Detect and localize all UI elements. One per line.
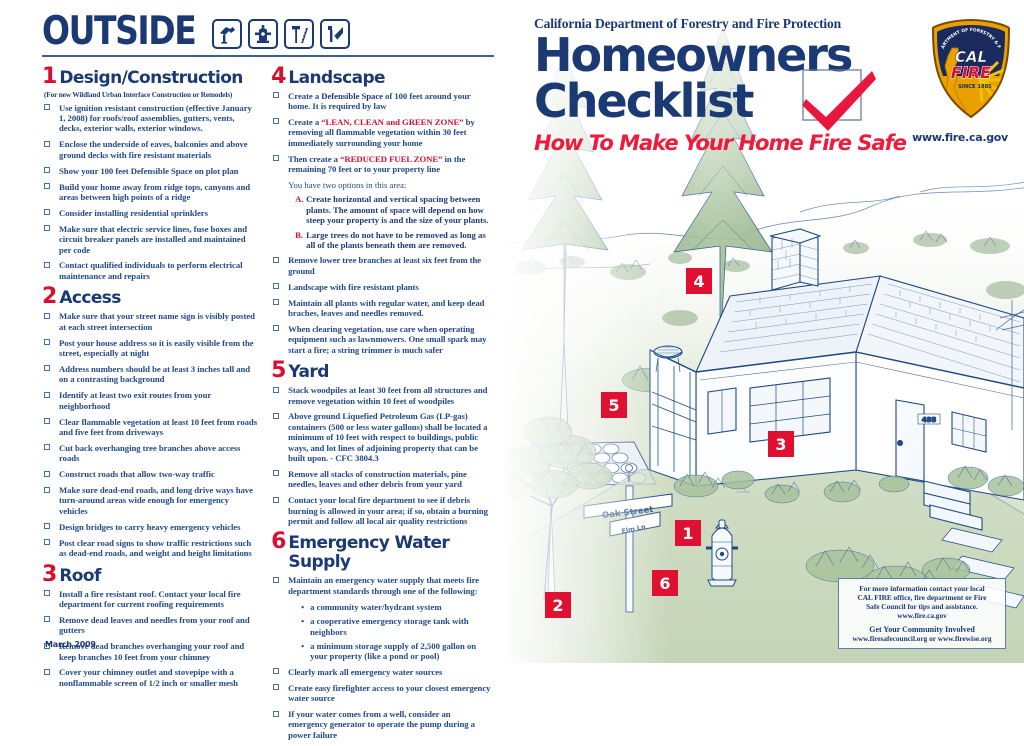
item-text: Contact your local fire department to se… [288, 495, 488, 526]
section-yard: 5 Yard Stack woodpiles at least 30 feet … [271, 361, 492, 526]
checkbox-icon[interactable] [44, 262, 50, 268]
item-text: Enclose the underside of eaves, balconie… [59, 139, 248, 159]
checkbox-icon[interactable] [273, 577, 279, 583]
item-text: Then create a [288, 154, 340, 164]
option-label: B. [295, 230, 303, 240]
list-item[interactable]: Enclose the underside of eaves, balconie… [42, 139, 257, 160]
section-emergency-water-supply: 6 Emergency Water Supply Maintain an eme… [271, 532, 492, 740]
cal-fire-url: www.fire.ca.gov [906, 131, 1014, 144]
section-6-heading: 6 Emergency Water Supply [271, 532, 492, 572]
item-text: Design bridges to carry heavy emergency … [59, 522, 240, 532]
info-url[interactable]: www.fire.ca.gov [845, 611, 999, 620]
section-5-heading: 5 Yard [271, 361, 492, 382]
item-text: Contact qualified individuals to perform… [59, 260, 243, 280]
item-text: Landscape with fire resistant plants [288, 282, 419, 292]
section-5-title: Yard [288, 363, 328, 382]
list-item: a community water/hydrant system [301, 602, 492, 612]
list-item[interactable]: Make sure dead-end roads, and long drive… [42, 485, 257, 516]
checkbox-icon[interactable] [273, 325, 279, 331]
option-text: Large trees do not have to be removed as… [306, 230, 486, 250]
checkbox-icon[interactable] [44, 444, 50, 450]
section-2-heading: 2 Access [42, 287, 257, 308]
more-information-box: For more information contact your local … [838, 578, 1006, 649]
item-text: Create a [288, 117, 321, 127]
list-item[interactable]: Contact qualified individuals to perform… [42, 260, 257, 281]
item-text: Make sure that your street name sign is … [59, 311, 255, 331]
map-marker-3: 3 [768, 431, 794, 457]
info-strong: Get Your Community Involved [845, 625, 999, 634]
checkbox-icon[interactable] [273, 283, 279, 289]
checkbox-icon[interactable] [273, 497, 279, 503]
section-3-heading: 3 Roof [42, 565, 257, 586]
option-text: Create horizontal and vertical spacing b… [306, 194, 488, 224]
checkbox-icon[interactable] [273, 470, 279, 476]
option-label: A. [295, 194, 303, 204]
checkbox-icon[interactable] [273, 668, 279, 674]
item-text: Post clear road signs to show traffic re… [59, 538, 252, 558]
list-item[interactable]: Post your house address so it is easily … [42, 338, 257, 359]
list-item[interactable]: Identify at least two exit routes from y… [42, 390, 257, 411]
list-item[interactable]: When clearing vegetation, use care when … [271, 324, 492, 355]
item-text: Address numbers should be at least 3 inc… [59, 364, 250, 384]
checkbox-icon[interactable] [44, 471, 50, 477]
list-item[interactable]: Use ignition resistant construction (eff… [42, 103, 257, 134]
checkbox-icon[interactable] [44, 183, 50, 189]
house-number-text: 488 [922, 416, 937, 424]
checkbox-icon[interactable] [44, 339, 50, 345]
section-1-heading: 1 Design/Construction [42, 67, 257, 88]
section-2-title: Access [59, 289, 120, 308]
list-item[interactable]: Create a “LEAN, CLEAN and GREEN ZONE” by… [271, 117, 492, 148]
list-item[interactable]: Create easy firefighter access to your c… [271, 683, 492, 704]
fire-hydrant-icon [248, 19, 278, 49]
item-text: Consider installing residential sprinkle… [59, 208, 208, 218]
checkbox-icon[interactable] [44, 365, 50, 371]
list-item[interactable]: Construct roads that allow two-way traff… [42, 469, 257, 479]
section-6-number: 6 [271, 532, 285, 552]
checkbox-icon[interactable] [44, 225, 50, 231]
list-item[interactable]: Post clear road signs to show traffic re… [42, 538, 257, 559]
checkbox-icon[interactable] [44, 141, 50, 147]
info-line-2: CAL FIRE office, fire department or Fire [845, 593, 999, 602]
header-icon-group [212, 19, 350, 49]
section-landscape: 4 Landscape Create a Defensible Space of… [271, 67, 492, 356]
list-item[interactable]: Design bridges to carry heavy emergency … [42, 522, 257, 532]
section-2-number: 2 [42, 287, 56, 307]
section-1-items: Use ignition resistant construction (eff… [42, 103, 257, 282]
checkbox-icon[interactable] [44, 167, 50, 173]
list-item[interactable]: Make sure that electric service lines, f… [42, 224, 257, 255]
section-4-title: Landscape [288, 69, 385, 88]
publication-date: March 2009 [45, 640, 96, 649]
checkbox-icon[interactable] [44, 539, 50, 545]
item-text: When clearing vegetation, use care when … [288, 324, 486, 355]
outside-title: OUTSIDE [42, 14, 195, 50]
item-text: Construct roads that allow two-way traff… [59, 469, 215, 479]
logo-since-text: SINCE 1885 [958, 84, 992, 90]
checkbox-icon[interactable] [44, 669, 50, 675]
checklist-columns: 1 Design/Construction (For new Wildland … [42, 61, 492, 746]
section-4-heading: 4 Landscape [271, 67, 492, 88]
list-item[interactable]: Maintain an emergency water supply that … [271, 575, 492, 596]
section-1-title: Design/Construction [59, 69, 242, 88]
list-item[interactable]: Then create a “REDUCED FUEL ZONE” in the… [271, 154, 492, 175]
list-item: a cooperative emergency storage tank wit… [301, 616, 492, 637]
section-2-items: Make sure that your street name sign is … [42, 311, 257, 558]
item-text: Cut back overhanging tree branches above… [59, 443, 240, 463]
section-roof: 3 Roof Install a fire resistant roof. Co… [42, 565, 257, 689]
item-text: Build your home away from ridge tops, ca… [59, 182, 250, 202]
hand-tool-icon [320, 19, 350, 49]
list-item[interactable]: Build your home away from ridge tops, ca… [42, 182, 257, 203]
list-item[interactable]: Create a Defensible Space of 100 feet ar… [271, 91, 492, 112]
section-6-title: Emergency Water Supply [288, 534, 492, 572]
section-design-construction: 1 Design/Construction (For new Wildland … [42, 67, 257, 282]
section-6-lead: Maintain an emergency water supply that … [271, 575, 492, 596]
cal-fire-shield-icon: CALIFORNIA DEPARTMENT OF FORESTRY & FIRE… [928, 18, 1014, 122]
item-text: Clear flammable vegetation at least 10 f… [59, 417, 257, 437]
checkbox-icon[interactable] [273, 118, 279, 124]
red-checkmark-icon [802, 69, 876, 131]
list-item: B.Large trees do not have to be removed … [295, 230, 492, 250]
list-item[interactable]: If your water comes from a well, conside… [271, 709, 492, 740]
list-item[interactable]: Remove dead leaves and needles from your… [42, 615, 257, 636]
list-item[interactable]: Remove all stacks of construction materi… [271, 469, 492, 490]
list-item[interactable]: Landscape with fire resistant plants [271, 282, 492, 292]
list-item[interactable]: Clearly mark all emergency water sources [271, 667, 492, 677]
section-4-items: Remove lower tree branches at least six … [271, 255, 492, 355]
list-item[interactable]: Stack woodpiles at least 30 feet from al… [271, 385, 492, 406]
item-text: Remove all stacks of construction materi… [288, 469, 467, 489]
list-item: A.Create horizontal and vertical spacing… [295, 194, 492, 225]
list-item[interactable]: Install a fire resistant roof. Contact y… [42, 589, 257, 610]
map-marker-1: 1 [675, 520, 701, 546]
item-text: Above ground Liquefied Petroleum Gas (LP… [288, 411, 487, 463]
map-marker-2: 2 [545, 592, 571, 618]
list-item[interactable]: Show your 100 feet Defensible Space on p… [42, 166, 257, 176]
homeowners-checklist-page: 488 [0, 0, 1024, 663]
item-text: Stack woodpiles at least 30 feet from al… [288, 385, 487, 405]
cal-fire-logo: CALIFORNIA DEPARTMENT OF FORESTRY & FIRE… [928, 18, 1014, 144]
section-6-bullets: a community water/hydrant system a coope… [271, 602, 492, 662]
checklist-column-2: 4 Landscape Create a Defensible Space of… [271, 61, 492, 746]
header-divider [42, 55, 494, 57]
item-text: Maintain an emergency water supply that … [288, 575, 479, 595]
landscape-options: A.Create horizontal and vertical spacing… [271, 194, 492, 250]
checkbox-icon[interactable] [44, 418, 50, 424]
item-text: Show your 100 feet Defensible Space on p… [59, 166, 238, 176]
checkbox-icon[interactable] [273, 684, 279, 690]
list-item[interactable]: Maintain all plants with regular water, … [271, 298, 492, 319]
section-3-title: Roof [59, 567, 100, 586]
section-access: 2 Access Make sure that your street name… [42, 287, 257, 558]
illustration-region: 488 [500, 0, 1024, 663]
checkbox-icon[interactable] [44, 487, 50, 493]
checkbox-icon[interactable] [44, 392, 50, 398]
map-marker-4: 4 [686, 268, 712, 294]
item-text: Clearly mark all emergency water sources [288, 667, 442, 677]
item-emphasis: Defensible Space [321, 91, 383, 101]
list-item[interactable]: Contact your local fire department to se… [271, 495, 492, 526]
list-item[interactable]: Cut back overhanging tree branches above… [42, 443, 257, 464]
item-text: Create a [288, 91, 321, 101]
checkbox-icon[interactable] [44, 616, 50, 622]
title-line-2: Checklist [534, 79, 752, 124]
list-item[interactable]: Consider installing residential sprinkle… [42, 208, 257, 218]
section-5-items: Stack woodpiles at least 30 feet from al… [271, 385, 492, 526]
item-emphasis: “LEAN, CLEAN and GREEN ZONE” [321, 117, 463, 127]
item-text: Post your house address so it is easily … [59, 338, 254, 358]
section-3-items: Install a fire resistant roof. Contact y… [42, 589, 257, 689]
item-text: Maintain all plants with regular water, … [288, 298, 484, 318]
checkbox-icon[interactable] [273, 155, 279, 161]
item-text: Make sure that electric service lines, f… [59, 224, 247, 255]
checkbox-icon[interactable] [44, 523, 50, 529]
section-4-number: 4 [271, 67, 285, 87]
section-4-rich-items: Create a Defensible Space of 100 feet ar… [271, 91, 492, 175]
info-line-3: Safe Council for tips and assistance. [845, 602, 999, 611]
outside-header: OUTSIDE [42, 10, 492, 50]
item-text: Use ignition resistant construction (eff… [59, 103, 252, 134]
list-item[interactable]: Make sure that your street name sign is … [42, 311, 257, 332]
checkbox-icon[interactable] [273, 711, 279, 717]
item-text: Remove lower tree branches at least six … [288, 255, 481, 275]
list-item[interactable]: Clear flammable vegetation at least 10 f… [42, 417, 257, 438]
section-3-number: 3 [42, 565, 56, 585]
list-item[interactable]: Remove lower tree branches at least six … [271, 255, 492, 276]
checkbox-icon[interactable] [273, 387, 279, 393]
checkbox-icon[interactable] [273, 413, 279, 419]
list-item: a minimum storage supply of 2,500 gallon… [301, 641, 492, 662]
checkbox-icon[interactable] [44, 313, 50, 319]
section-6-items: Clearly mark all emergency water sources… [271, 667, 492, 740]
item-text: If your water comes from a well, conside… [288, 709, 475, 740]
info-links[interactable]: www.firesafecouncil.org or www.firewise.… [845, 634, 999, 643]
item-text: Identify at least two exit routes from y… [59, 390, 211, 410]
map-marker-6: 6 [652, 570, 678, 596]
item-text: Remove dead leaves and needles from your… [59, 615, 250, 635]
item-emphasis: “REDUCED FUEL ZONE” [340, 154, 442, 164]
map-marker-5: 5 [601, 392, 627, 418]
hammer-icon [212, 19, 242, 49]
checkbox-icon[interactable] [273, 92, 279, 98]
list-item[interactable]: Cover your chimney outlet and stovepipe … [42, 667, 257, 688]
item-text: Create easy firefighter access to your c… [288, 683, 490, 703]
street-sign-icon [284, 19, 314, 49]
info-line-1: For more information contact your local [845, 584, 999, 593]
item-text: Cover your chimney outlet and stovepipe … [59, 667, 238, 687]
list-item[interactable]: Address numbers should be at least 3 inc… [42, 364, 257, 385]
checkbox-icon[interactable] [44, 590, 50, 596]
checklist-panel: OUTSIDE [0, 0, 500, 663]
checkbox-icon[interactable] [44, 209, 50, 215]
logo-fire-text: FIRE [951, 63, 991, 82]
landscape-options-note: You have two options in this area: [271, 180, 492, 190]
list-item[interactable]: Above ground Liquefied Petroleum Gas (LP… [271, 411, 492, 463]
checkbox-icon[interactable] [273, 299, 279, 305]
section-5-number: 5 [271, 361, 285, 381]
checkbox-icon[interactable] [44, 104, 50, 110]
checkbox-icon[interactable] [273, 257, 279, 263]
section-1-number: 1 [42, 67, 56, 87]
item-text: Make sure dead-end roads, and long drive… [59, 485, 253, 516]
item-text: Install a fire resistant roof. Contact y… [59, 589, 241, 609]
section-1-subtitle: (For new Wildland Urban Interface Constr… [44, 91, 257, 99]
